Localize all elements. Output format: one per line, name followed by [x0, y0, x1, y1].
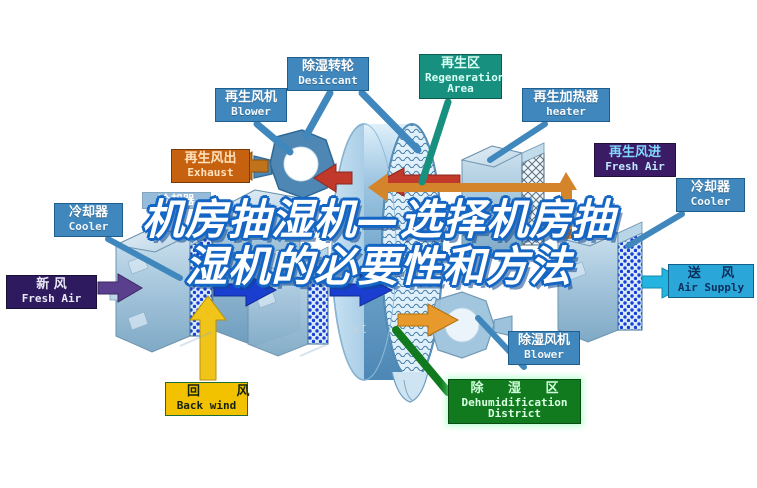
label-regeneration-blower-en: Blower	[221, 106, 281, 118]
label-regeneration-area-cn: 再生区	[425, 57, 496, 72]
label-regeneration-fresh-air-in: 再生风进 Fresh Air	[594, 143, 676, 177]
label-regeneration-blower-cn: 再生风机	[221, 91, 281, 106]
label-regeneration-fresh-air-in-cn: 再生风进	[600, 146, 670, 161]
label-cooler-left-upper: 冷却器	[142, 192, 211, 209]
label-back-wind-en: Back wind	[171, 400, 242, 412]
label-cooler-left-upper-cn: 冷却器	[147, 194, 206, 207]
label-cooler-left-cn: 冷却器	[60, 206, 117, 221]
label-exhaust-cn: 再生风出	[177, 152, 244, 167]
label-regeneration-fresh-air-in-en: Fresh Air	[600, 161, 670, 173]
label-cooler-left: 冷却器 Cooler	[54, 203, 123, 237]
regeneration-heater-block	[462, 143, 544, 258]
label-fresh-air-in-en: Fresh Air	[12, 293, 91, 305]
label-regeneration-heater-cn: 再生加热器	[528, 91, 604, 106]
label-dehumidify-blower: 除湿风机 Blower	[508, 331, 580, 365]
label-exhaust-en: Exhaust	[177, 167, 244, 179]
dehumidifier-schematic-svg	[0, 0, 757, 488]
label-cooler-left-en: Cooler	[60, 221, 117, 233]
watermark-text: xt	[352, 320, 368, 337]
label-desiccant-wheel-en: Desiccant	[293, 75, 363, 87]
diagram-canvas: xt 除湿转轮 Desiccant 再生风机 Blower 再生区 Regene…	[0, 0, 757, 488]
label-regeneration-heater: 再生加热器 heater	[522, 88, 610, 122]
label-desiccant-wheel-cn: 除湿转轮	[293, 60, 363, 75]
label-back-wind-cn: 回 风	[171, 385, 242, 400]
label-fresh-air-in: 新 风 Fresh Air	[6, 275, 97, 309]
label-regeneration-blower: 再生风机 Blower	[215, 88, 287, 122]
label-regeneration-heater-en: heater	[528, 106, 604, 118]
label-dehumidification-district-en: Dehumidification District	[454, 397, 575, 421]
label-air-supply: 送 风 Air Supply	[668, 264, 754, 298]
label-regeneration-area: 再生区 Regeneration Area	[419, 54, 502, 99]
label-fresh-air-in-cn: 新 风	[12, 278, 91, 293]
label-desiccant-wheel: 除湿转轮 Desiccant	[287, 57, 369, 91]
label-cooler-right-en: Cooler	[682, 196, 739, 208]
label-dehumidify-blower-cn: 除湿风机	[514, 334, 574, 349]
label-cooler-right: 冷却器 Cooler	[676, 178, 745, 212]
label-regeneration-area-en: Regeneration Area	[425, 72, 496, 95]
cooler-block-right	[558, 222, 642, 342]
label-dehumidify-blower-en: Blower	[514, 349, 574, 361]
label-cooler-right-cn: 冷却器	[682, 181, 739, 196]
label-dehumidification-district-cn: 除 湿 区	[454, 382, 575, 397]
cooler-block-middle	[248, 247, 328, 356]
label-air-supply-cn: 送 风	[674, 267, 748, 282]
label-dehumidification-district: 除 湿 区 Dehumidification District	[448, 379, 581, 424]
label-air-supply-en: Air Supply	[674, 282, 748, 294]
label-back-wind: 回 风 Back wind	[165, 382, 248, 416]
label-exhaust: 再生风出 Exhaust	[171, 149, 250, 183]
